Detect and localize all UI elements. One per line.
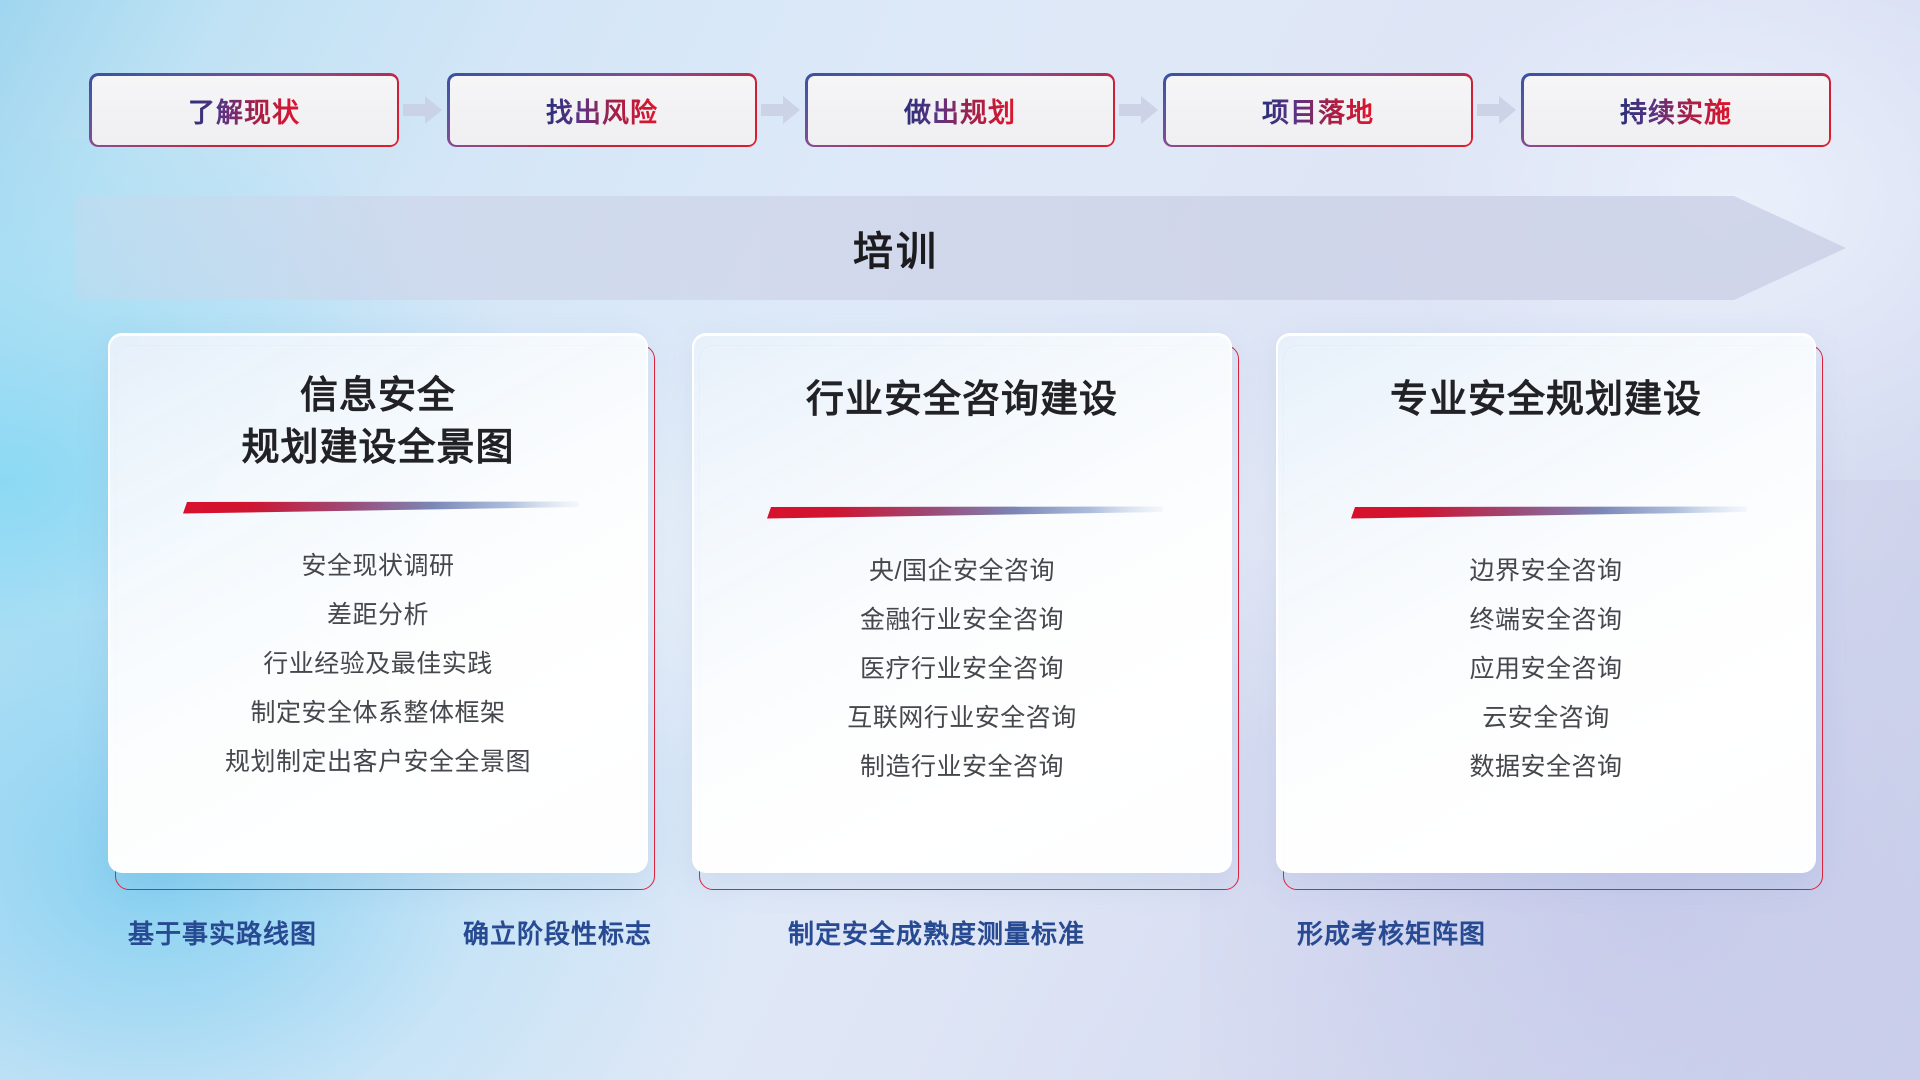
- process-step-label: 找出风险: [546, 91, 658, 130]
- outcome-caption: 形成考核矩阵图: [1297, 914, 1486, 951]
- process-step-flow: 了解现状 找出风险 做出规划 项目落地 持续实施: [0, 72, 1920, 148]
- list-item: 云安全咨询: [1482, 694, 1610, 743]
- process-step-2[interactable]: 找出风险: [447, 73, 757, 147]
- service-card-accent-bar: [1345, 505, 1747, 521]
- process-step-4[interactable]: 项目落地: [1163, 73, 1473, 147]
- training-banner: 培训: [76, 196, 1846, 300]
- service-card-2[interactable]: 行业安全咨询建设: [692, 333, 1232, 873]
- service-card-3-wrap: 专业安全规划建设: [1276, 333, 1816, 878]
- process-step-5[interactable]: 持续实施: [1521, 73, 1831, 147]
- training-banner-label-wrap: 培训: [76, 196, 1846, 300]
- list-item: 应用安全咨询: [1469, 645, 1622, 694]
- list-item: 医疗行业安全咨询: [860, 645, 1064, 694]
- service-card-group: 信息安全 规划建设全景图: [108, 333, 1848, 893]
- outcome-caption: 基于事实路线图: [128, 914, 317, 951]
- service-card-list: 央/国企安全咨询 金融行业安全咨询 医疗行业安全咨询 互联网行业安全咨询 制造行…: [694, 547, 1230, 792]
- arrow-right-icon: [1115, 72, 1163, 148]
- list-item: 终端安全咨询: [1469, 596, 1622, 645]
- service-card-list: 边界安全咨询 终端安全咨询 应用安全咨询 云安全咨询 数据安全咨询: [1278, 547, 1814, 792]
- service-card-accent-bar: [177, 500, 579, 516]
- list-item: 差距分析: [327, 591, 429, 640]
- list-item: 金融行业安全咨询: [860, 596, 1064, 645]
- list-item: 规划制定出客户安全全景图: [225, 738, 531, 787]
- arrow-right-icon: [399, 72, 447, 148]
- list-item: 行业经验及最佳实践: [263, 640, 493, 689]
- list-item: 制定安全体系整体框架: [250, 689, 505, 738]
- service-card-2-wrap: 行业安全咨询建设: [692, 333, 1232, 878]
- service-card-accent-bar: [761, 505, 1163, 521]
- outcome-caption-row: 基于事实路线图 确立阶段性标志 制定安全成熟度测量标准 形成考核矩阵图: [0, 914, 1920, 966]
- service-card-1[interactable]: 信息安全 规划建设全景图: [108, 333, 648, 873]
- process-step-label: 了解现状: [188, 91, 300, 130]
- arrow-right-icon: [1473, 72, 1521, 148]
- list-item: 边界安全咨询: [1469, 547, 1622, 596]
- service-card-title: 信息安全 规划建设全景图: [241, 371, 514, 474]
- service-card-list: 安全现状调研 差距分析 行业经验及最佳实践 制定安全体系整体框架 规划制定出客户…: [110, 542, 646, 787]
- list-item: 央/国企安全咨询: [869, 547, 1055, 596]
- arrow-right-icon: [757, 72, 805, 148]
- process-step-3[interactable]: 做出规划: [805, 73, 1115, 147]
- list-item: 互联网行业安全咨询: [847, 694, 1077, 743]
- process-step-label: 做出规划: [904, 91, 1016, 130]
- service-card-3[interactable]: 专业安全规划建设: [1276, 333, 1816, 873]
- outcome-caption: 确立阶段性标志: [463, 914, 652, 951]
- process-step-label: 项目落地: [1262, 91, 1374, 130]
- list-item: 数据安全咨询: [1469, 743, 1622, 792]
- list-item: 制造行业安全咨询: [860, 743, 1064, 792]
- service-card-title: 行业安全咨询建设: [806, 375, 1118, 427]
- process-step-1[interactable]: 了解现状: [89, 73, 399, 147]
- process-step-label: 持续实施: [1620, 91, 1732, 130]
- outcome-caption: 制定安全成熟度测量标准: [788, 914, 1085, 951]
- list-item: 安全现状调研: [301, 542, 454, 591]
- service-card-title: 专业安全规划建设: [1390, 375, 1702, 427]
- training-banner-label: 培训: [853, 219, 939, 277]
- service-card-1-wrap: 信息安全 规划建设全景图: [108, 333, 648, 878]
